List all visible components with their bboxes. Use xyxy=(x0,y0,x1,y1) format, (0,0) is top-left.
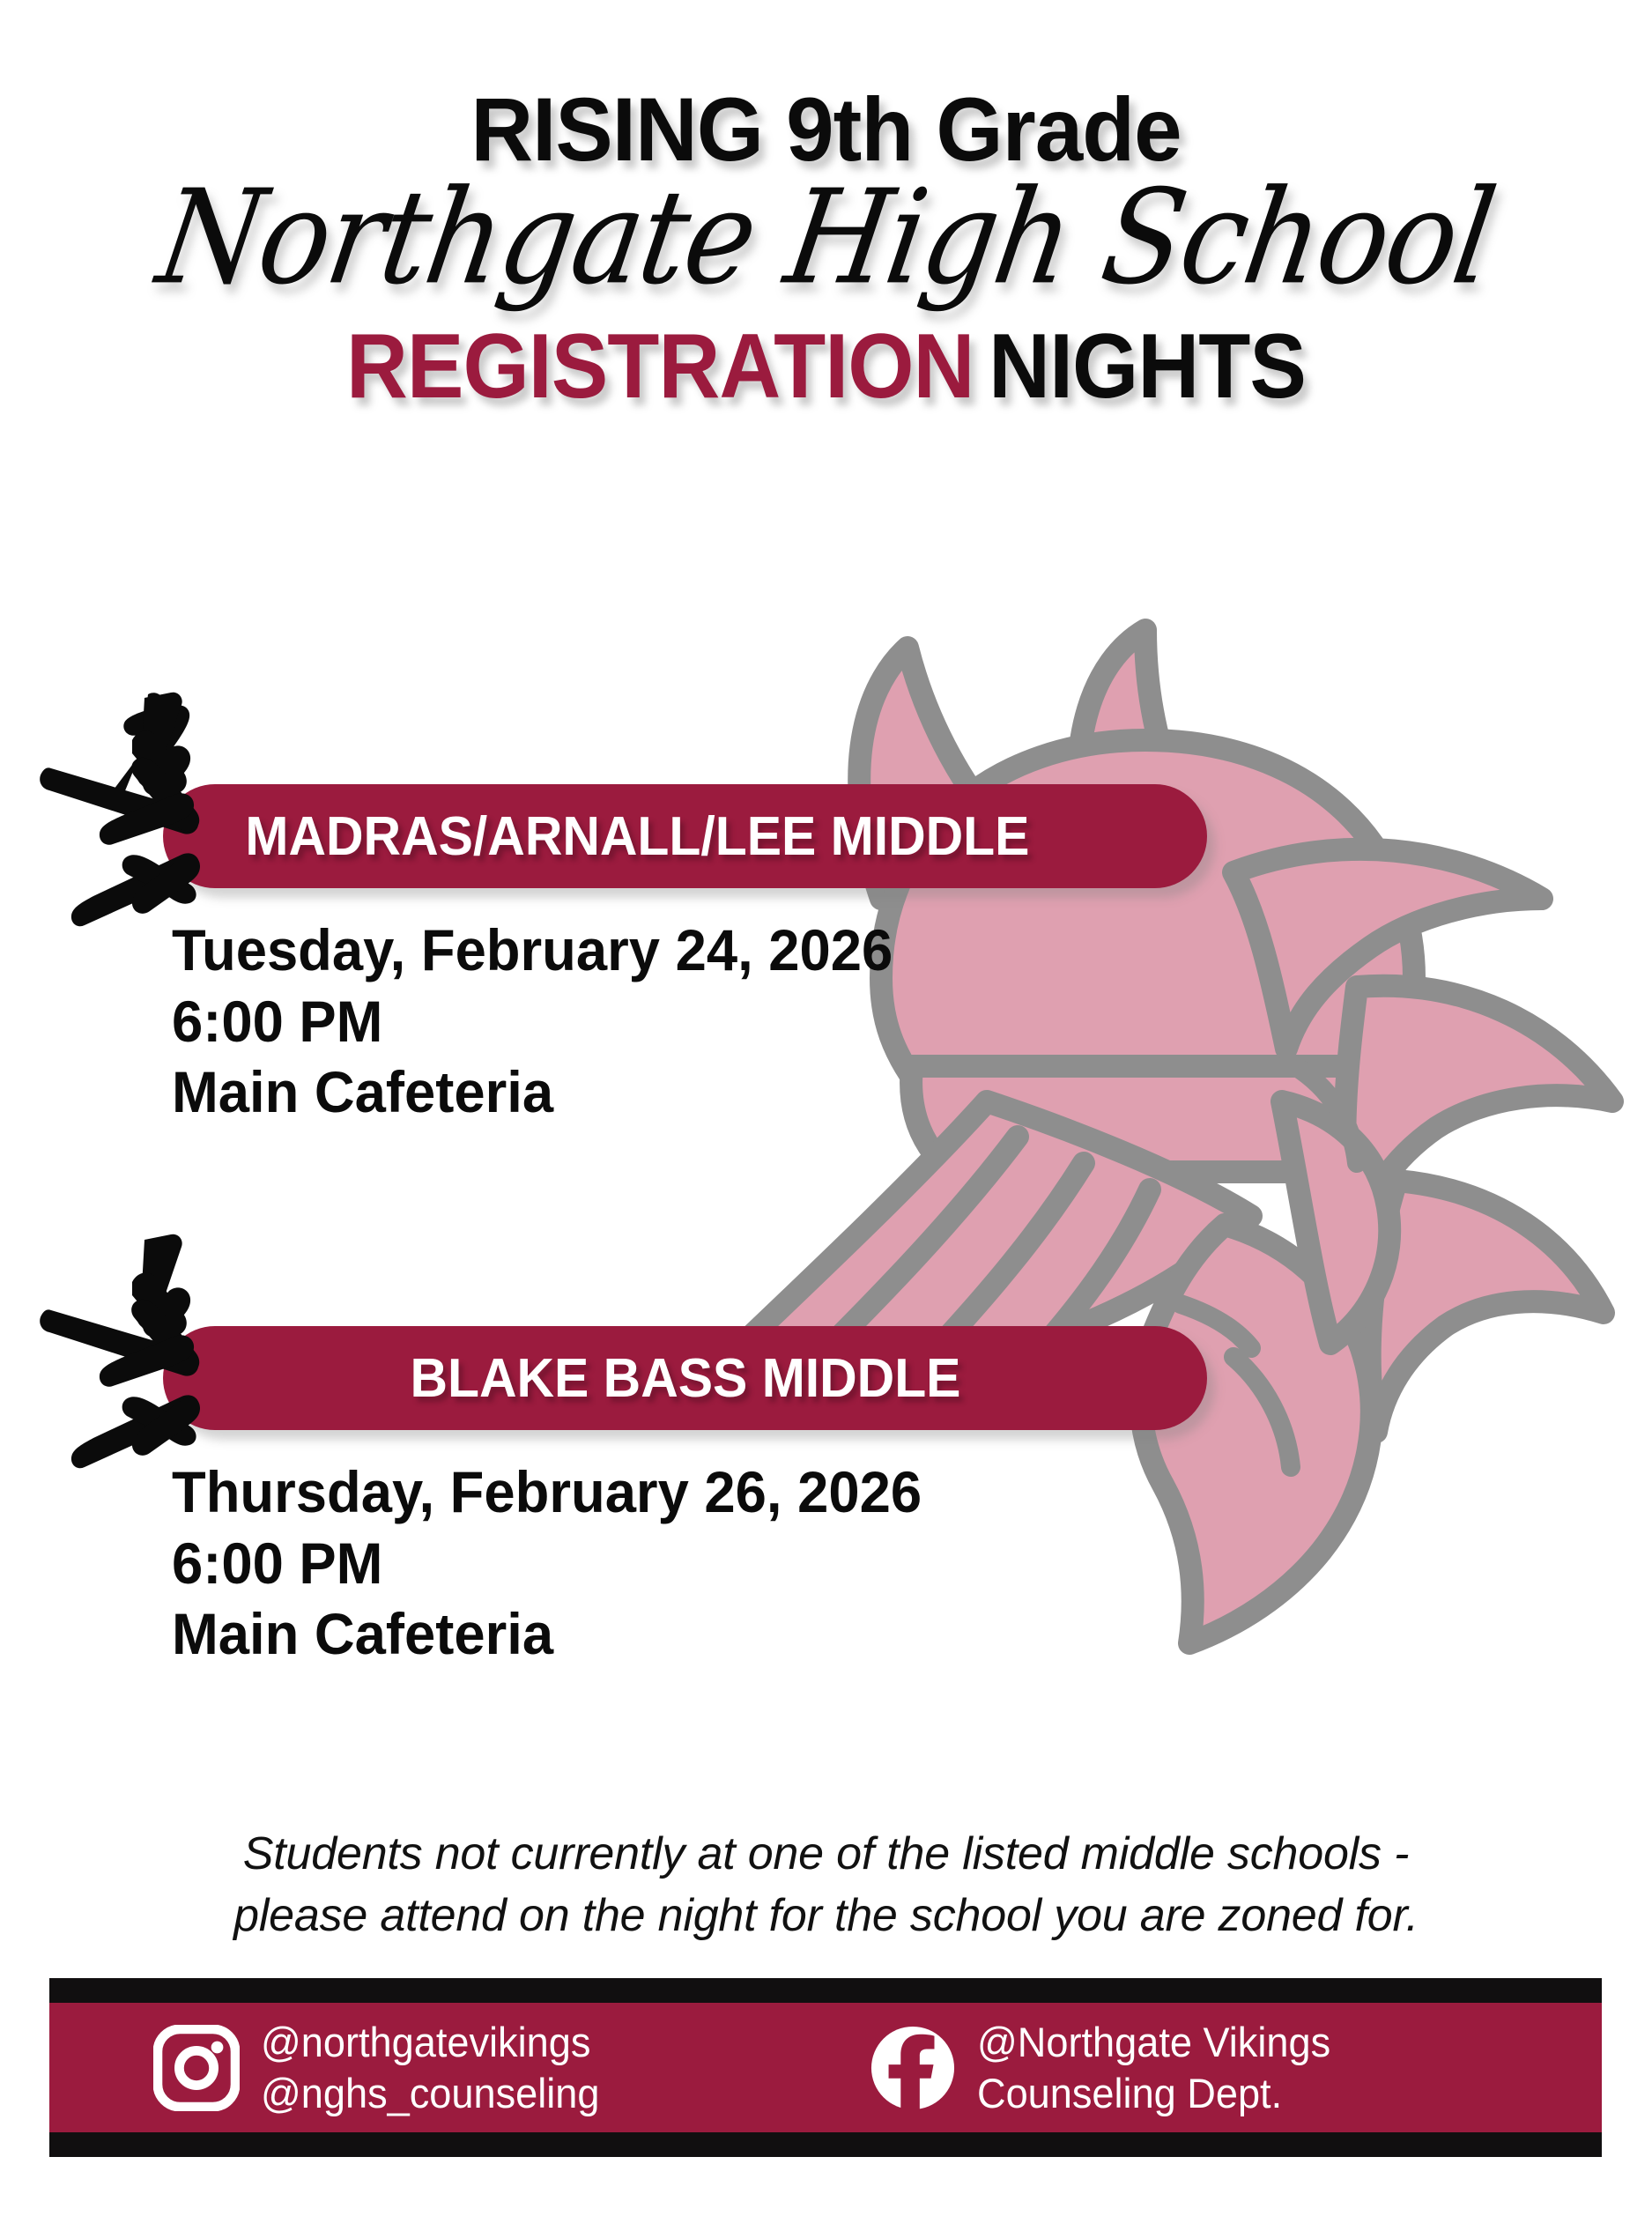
event-time-1: 6:00 PM xyxy=(172,1528,922,1599)
headline-line-rising: RISING 9th Grade xyxy=(33,85,1619,174)
instagram-handle-2: @nghs_counseling xyxy=(261,2068,599,2118)
headline-nights-word: NIGHTS xyxy=(989,315,1306,418)
facebook-handle-1: @Northgate Vikings xyxy=(977,2017,1330,2067)
facebook-icon xyxy=(870,2025,956,2111)
registration-nights-flyer: RISING 9th Grade Northgate High School R… xyxy=(0,0,1652,2231)
event-location-1: Main Cafeteria xyxy=(172,1598,922,1670)
event-banner-0: MADRAS/ARNALL/LEE MIDDLE xyxy=(163,784,1207,888)
arrow-cluster-icon xyxy=(35,1229,291,1494)
footer-top-rule xyxy=(49,1978,1602,2003)
event-location-0: Main Cafeteria xyxy=(172,1056,893,1128)
zoning-note-line-1: Students not currently at one of the lis… xyxy=(0,1824,1652,1886)
zoning-note: Students not currently at one of the lis… xyxy=(0,1824,1652,1946)
footer-bottom-rule xyxy=(49,2132,1602,2157)
instagram-handle-1: @northgatevikings xyxy=(261,2017,599,2067)
instagram-icon xyxy=(153,2025,240,2111)
headline-registration-nights: REGISTRATIONNIGHTS xyxy=(58,321,1595,412)
flyer-headline: RISING 9th Grade Northgate High School R… xyxy=(0,0,1652,412)
headline-school-name-script: Northgate High School xyxy=(0,173,1652,303)
event-banner-1: BLAKE BASS MIDDLE xyxy=(163,1326,1207,1430)
facebook-social-group[interactable]: @Northgate Vikings Counseling Dept. xyxy=(870,2017,1345,2118)
event-time-0: 6:00 PM xyxy=(172,986,893,1057)
instagram-social-group[interactable]: @northgatevikings @nghs_counseling xyxy=(153,2017,614,2118)
zoning-note-line-2: please attend on the night for the schoo… xyxy=(0,1886,1652,1947)
headline-registration-word: REGISTRATION xyxy=(346,315,974,418)
facebook-handle-2: Counseling Dept. xyxy=(977,2068,1330,2118)
social-footer: @northgatevikings @nghs_counseling @Nort… xyxy=(49,1978,1602,2157)
instagram-handles: @northgatevikings @nghs_counseling xyxy=(261,2017,614,2118)
arrow-cluster-icon xyxy=(35,687,291,952)
facebook-handles: @Northgate Vikings Counseling Dept. xyxy=(977,2017,1345,2118)
event-banner-label-0: MADRAS/ARNALL/LEE MIDDLE xyxy=(245,805,1029,868)
footer-body: @northgatevikings @nghs_counseling @Nort… xyxy=(49,2003,1602,2132)
event-banner-label-1: BLAKE BASS MIDDLE xyxy=(410,1347,960,1410)
